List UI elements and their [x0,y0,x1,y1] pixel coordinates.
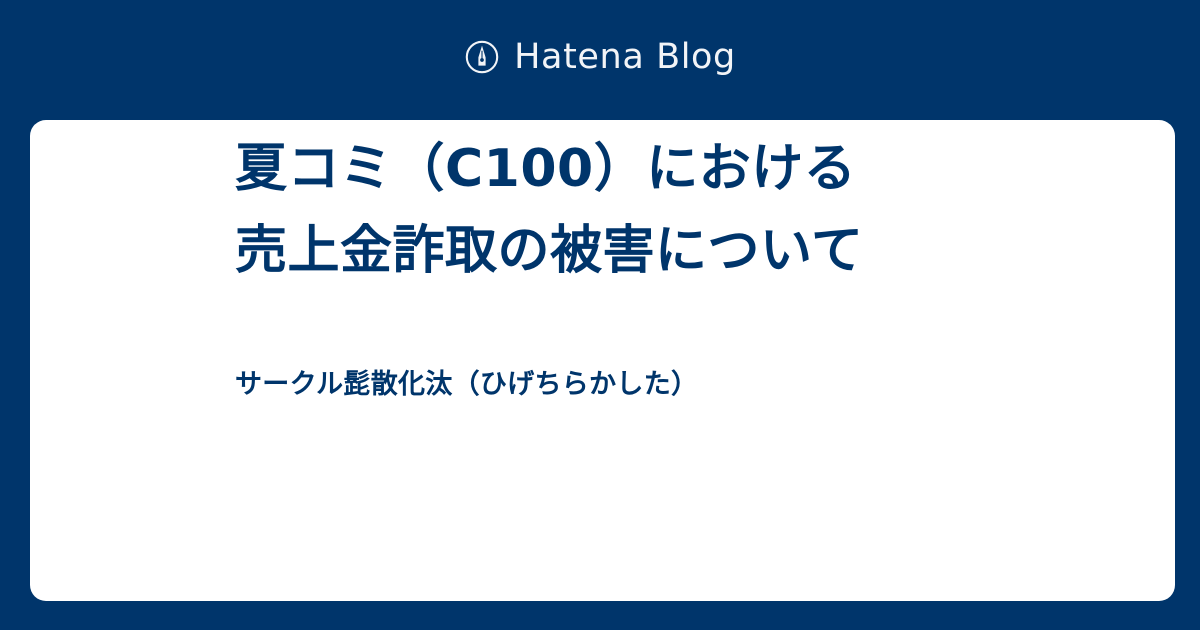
entry-title: 夏コミ（C100）における 売上金詐取の被害について [235,128,975,292]
brand-header: Hatena Blog [0,0,1200,120]
blog-name-label: サークル髭散化汰（ひげちらかした） [235,366,975,404]
hatena-pen-nib-icon [464,39,500,75]
entry-title-line-1: 夏コミ（C100）における [235,128,975,210]
entry-title-line-2: 売上金詐取の被害について [235,210,975,292]
brand-name-label: Hatena Blog [514,40,736,75]
